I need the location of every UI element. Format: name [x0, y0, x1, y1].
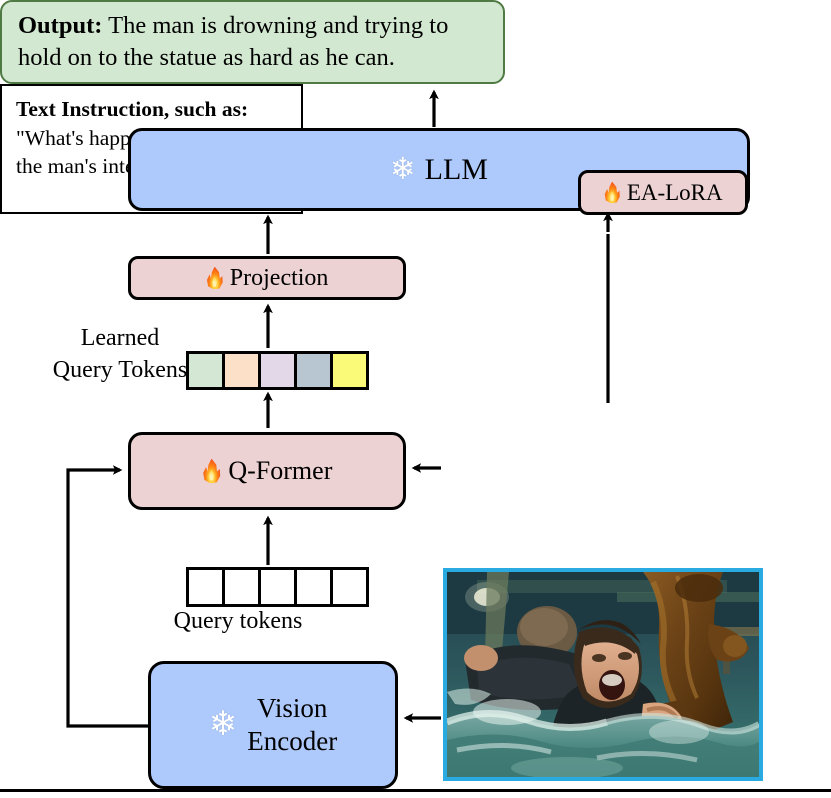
learned-token-5: [333, 354, 366, 387]
bottom-divider: [0, 789, 831, 792]
snowflake-icon: ❄: [390, 154, 416, 185]
snowflake-icon: ❄: [209, 708, 238, 742]
vision-encoder-label-line1: Vision: [247, 692, 337, 725]
flame-icon: [206, 267, 224, 290]
input-photo: [443, 568, 763, 781]
learned-query-tokens-label-line2: Query Tokens: [40, 355, 200, 387]
query-token-1: [189, 570, 225, 604]
projection-block: Projection: [128, 256, 406, 300]
projection-label: Projection: [230, 265, 329, 292]
flame-icon: [603, 182, 620, 204]
vision-encoder-label: Vision Encoder: [247, 692, 337, 758]
architecture-diagram: Output: The man is drowning and trying t…: [0, 0, 831, 798]
learned-query-tokens-row: [186, 351, 369, 390]
flame-icon: [202, 459, 222, 484]
learned-token-4: [297, 354, 333, 387]
vision-encoder-label-line2: Encoder: [247, 725, 337, 758]
learned-query-tokens-label: Learned Query Tokens: [40, 323, 200, 386]
learned-token-1: [189, 354, 225, 387]
vision-encoder-block: ❄ Vision Encoder: [148, 661, 398, 789]
llm-label-group: ❄ LLM: [390, 153, 488, 187]
output-label: Output:: [18, 12, 102, 39]
query-token-4: [297, 570, 333, 604]
input-photo-illustration: [447, 572, 759, 777]
query-token-2: [225, 570, 261, 604]
q-former-block: Q-Former: [128, 432, 406, 510]
ea-lora-label: EA-LoRA: [627, 180, 723, 206]
query-token-5: [333, 570, 366, 604]
learned-token-3: [261, 354, 297, 387]
vision-encoder-inner: ❄ Vision Encoder: [209, 692, 337, 758]
query-tokens-label: Query tokens: [118, 608, 358, 635]
output-box: Output: The man is drowning and trying t…: [0, 0, 505, 84]
learned-token-2: [225, 354, 261, 387]
ea-lora-badge: EA-LoRA: [578, 170, 748, 215]
learned-query-tokens-label-line1: Learned: [40, 323, 200, 355]
query-tokens-row: [186, 567, 369, 607]
text-instruction-heading: Text Instruction, such as:: [16, 95, 293, 124]
q-former-label: Q-Former: [228, 456, 332, 486]
query-token-3: [261, 570, 297, 604]
llm-label: LLM: [425, 153, 488, 187]
